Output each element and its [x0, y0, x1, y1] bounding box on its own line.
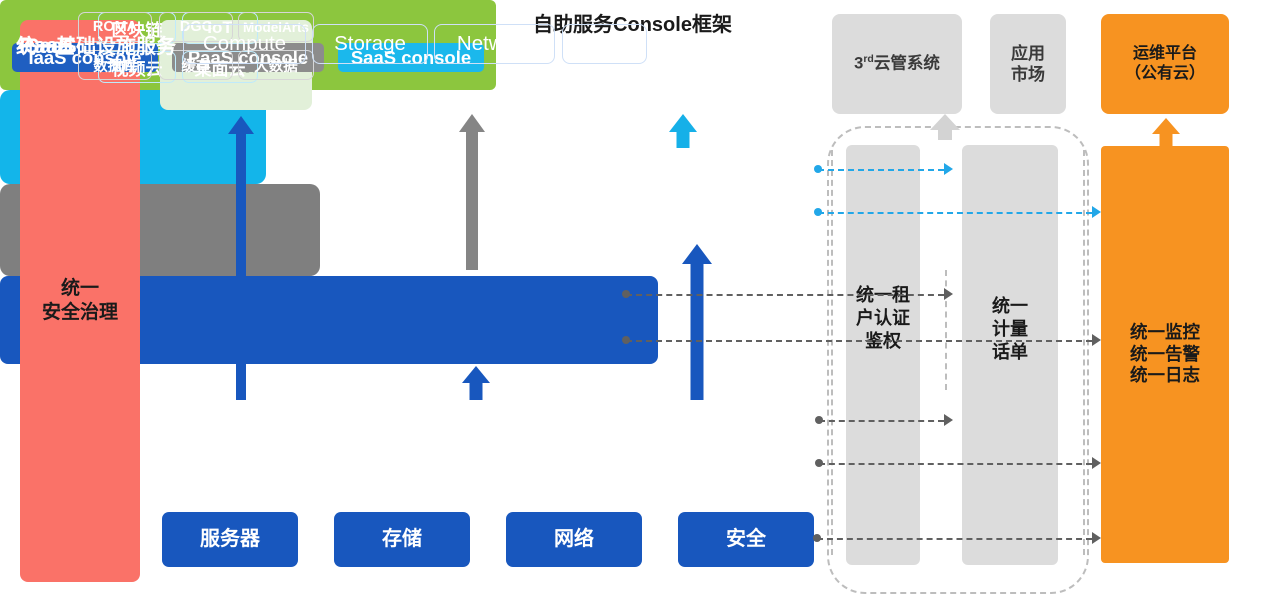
- arrow-ops-panel-to-ops-platform: [1152, 118, 1180, 146]
- arrow-head: [682, 244, 712, 264]
- arrow-head: [1152, 118, 1180, 134]
- app-market-line-1: 应用: [1011, 43, 1045, 64]
- ops-platform-text: 运维平台 （公有云）: [1125, 44, 1205, 84]
- unified-infrastructure-label: 统一基础设施服务: [16, 0, 176, 88]
- hardware-box-security[interactable]: 安全: [678, 512, 814, 567]
- hardware-box-network[interactable]: 网络: [506, 512, 642, 567]
- third-party-superscript: rd: [863, 53, 874, 65]
- dash-arrow-infra-to-auth: [944, 414, 953, 426]
- ops-platform-line-2: （公有云）: [1125, 64, 1205, 84]
- vertical-dash-guide-left: [831, 150, 833, 555]
- security-line-1: 统一: [42, 277, 118, 301]
- dash-line-infra-to-auth: [819, 420, 944, 422]
- arrow-head: [669, 114, 697, 132]
- third-party-cloud-mgmt-box[interactable]: 3rd云管系统: [832, 14, 962, 114]
- architecture-diagram: 统一 安全治理 API网关 自助服务Console框架 IaaS console…: [0, 0, 1265, 605]
- dash-line-infra-to-ops: [819, 463, 1092, 465]
- monitoring-line-3: 统一日志: [1130, 365, 1200, 387]
- billing-line-3: 话单: [962, 341, 1058, 364]
- billing-line-2: 计量: [962, 318, 1058, 341]
- arrow-shaft: [691, 262, 704, 400]
- unified-monitoring-text: 统一监控 统一告警 统一日志: [1130, 322, 1200, 388]
- monitoring-line-2: 统一告警: [1130, 344, 1200, 366]
- app-market-line-2: 市场: [1011, 64, 1045, 85]
- dash-arrow-saas-to-auth: [944, 163, 953, 175]
- infra-chip-network[interactable]: Network: [434, 24, 555, 64]
- auth-line-2: 户认证: [846, 307, 920, 330]
- arrow-container-to-third-party: [930, 114, 960, 140]
- unified-billing-text: 统一 计量 话单: [962, 295, 1058, 364]
- hardware-box-storage[interactable]: 存储: [334, 512, 470, 567]
- arrow-shaft: [470, 383, 483, 400]
- third-party-label: 3rd云管系统: [854, 53, 940, 74]
- app-market-text: 应用 市场: [1011, 43, 1045, 86]
- dash-arrow-infra-to-ops: [1092, 457, 1101, 469]
- arrow-head: [930, 114, 960, 130]
- arrow-shaft: [236, 132, 246, 400]
- monitoring-line-1: 统一监控: [1130, 322, 1200, 344]
- dash-line-paas-to-auth: [626, 294, 944, 296]
- ops-platform-line-1: 运维平台: [1125, 44, 1205, 64]
- infra-chip-cce[interactable]: CCE: [562, 24, 647, 64]
- dash-line-hardware-to-ops: [817, 538, 1092, 540]
- arrow-shaft: [466, 130, 478, 270]
- infra-chip-compute[interactable]: Compute: [183, 24, 306, 64]
- security-line-2: 安全治理: [42, 301, 118, 325]
- unified-billing-column[interactable]: 统一 计量 话单: [962, 145, 1058, 565]
- arrow-saas-to-saas-console: [669, 114, 697, 148]
- security-governance-text: 统一 安全治理: [42, 277, 118, 325]
- arrow-infra-to-paas: [462, 366, 490, 400]
- hardware-box-server[interactable]: 服务器: [162, 512, 298, 567]
- dash-arrow-paas-to-ops: [1092, 334, 1101, 346]
- unified-tenant-auth-column[interactable]: 统一租 户认证 鉴权: [846, 145, 920, 565]
- infra-chip-storage[interactable]: Storage: [312, 24, 428, 64]
- ops-platform-box[interactable]: 运维平台 （公有云）: [1101, 14, 1229, 114]
- dash-arrow-paas-to-auth: [944, 288, 953, 300]
- vertical-dash-guide-right: [1083, 150, 1085, 555]
- arrow-shaft: [677, 130, 690, 148]
- arrow-infra-to-saas: [682, 244, 712, 400]
- billing-line-1: 统一: [962, 295, 1058, 318]
- dash-line-saas-to-ops: [818, 212, 1092, 214]
- dash-line-paas-to-ops: [626, 340, 1092, 342]
- arrow-head: [228, 116, 254, 134]
- arrow-head: [459, 114, 485, 132]
- app-market-box[interactable]: 应用 市场: [990, 14, 1066, 114]
- unified-monitoring-panel[interactable]: 统一监控 统一告警 统一日志: [1101, 146, 1229, 563]
- dash-arrow-hardware-to-ops: [1092, 532, 1101, 544]
- arrow-head: [462, 366, 490, 383]
- arrow-shaft: [1160, 132, 1173, 146]
- security-governance-panel[interactable]: 统一 安全治理: [20, 20, 140, 582]
- dash-arrow-saas-to-ops: [1092, 206, 1101, 218]
- arrow-infra-to-api-gateway: [228, 116, 254, 400]
- arrow-paas-to-paas-console: [459, 114, 485, 270]
- dash-line-saas-to-auth: [818, 169, 944, 171]
